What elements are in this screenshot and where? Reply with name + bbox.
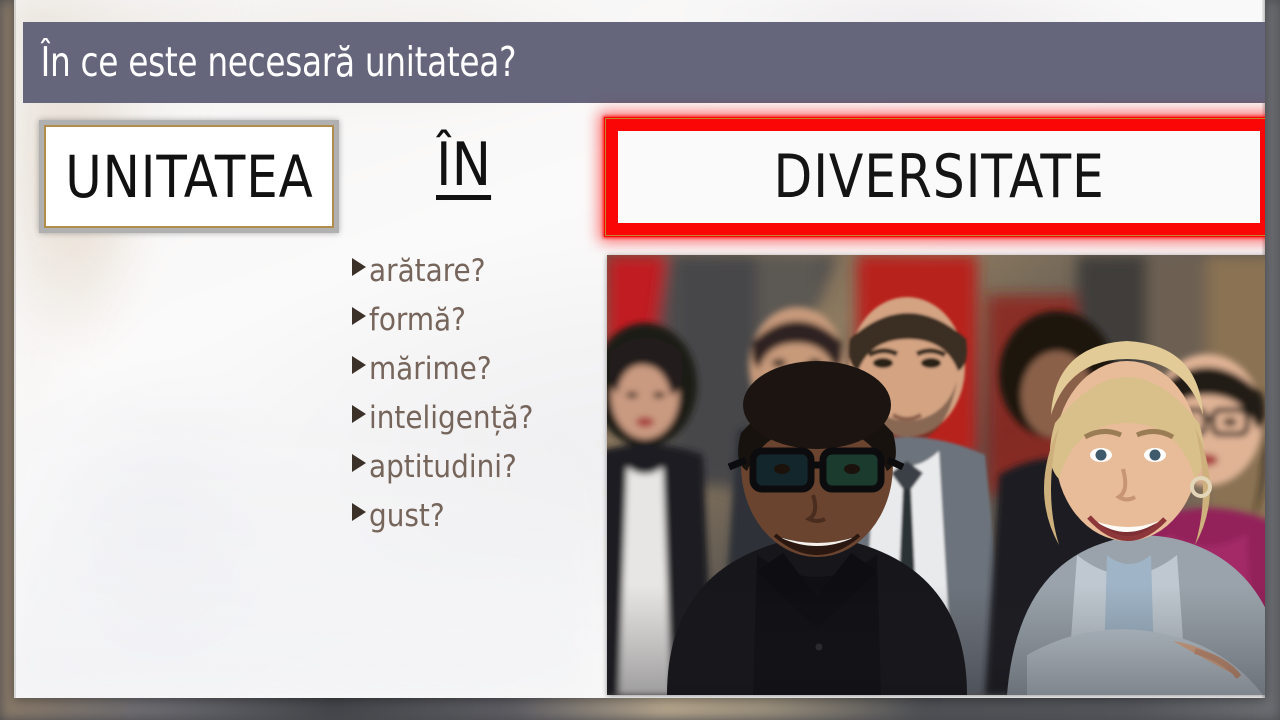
slide-viewer: În ce este necesară unitatea? UNITATEA Î… (0, 0, 1280, 720)
presentation-slide: În ce este necesară unitatea? UNITATEA Î… (14, 0, 1265, 698)
slide-left-edge (14, 0, 16, 698)
list-item-label: aptitudini? (369, 452, 517, 483)
triangle-right-bullet-icon (352, 356, 366, 374)
list-item-label: gust? (369, 501, 445, 532)
list-item-label: inteligență? (369, 403, 533, 434)
triangle-right-bullet-icon (352, 307, 366, 325)
list-item: mărime? (352, 354, 602, 403)
slide-title-bar: În ce este necesară unitatea? (23, 22, 1265, 103)
connector-word-in: ÎN (436, 135, 491, 195)
diversitate-framed-box: DIVERSITATE (604, 117, 1265, 237)
page-title: În ce este necesară unitatea? (23, 42, 516, 83)
diversity-group-photo (607, 255, 1265, 695)
diversitate-label: DIVERSITATE (773, 142, 1104, 212)
list-item-label: formă? (369, 305, 466, 336)
list-item: inteligență? (352, 403, 602, 452)
list-item-label: mărime? (369, 354, 492, 385)
unitatea-framed-box: UNITATEA (39, 120, 339, 233)
triangle-right-bullet-icon (352, 258, 366, 276)
group-photo-illustration (607, 255, 1265, 695)
list-item: arătare? (352, 256, 602, 305)
list-item: aptitudini? (352, 452, 602, 501)
list-item: formă? (352, 305, 602, 354)
triangle-right-bullet-icon (352, 454, 366, 472)
list-item: gust? (352, 501, 602, 550)
bullet-list: arătare? formă? mărime? inteligență? apt… (352, 256, 602, 550)
triangle-right-bullet-icon (352, 503, 366, 521)
triangle-right-bullet-icon (352, 405, 366, 423)
list-item-label: arătare? (369, 256, 486, 287)
unitatea-label: UNITATEA (65, 143, 313, 211)
